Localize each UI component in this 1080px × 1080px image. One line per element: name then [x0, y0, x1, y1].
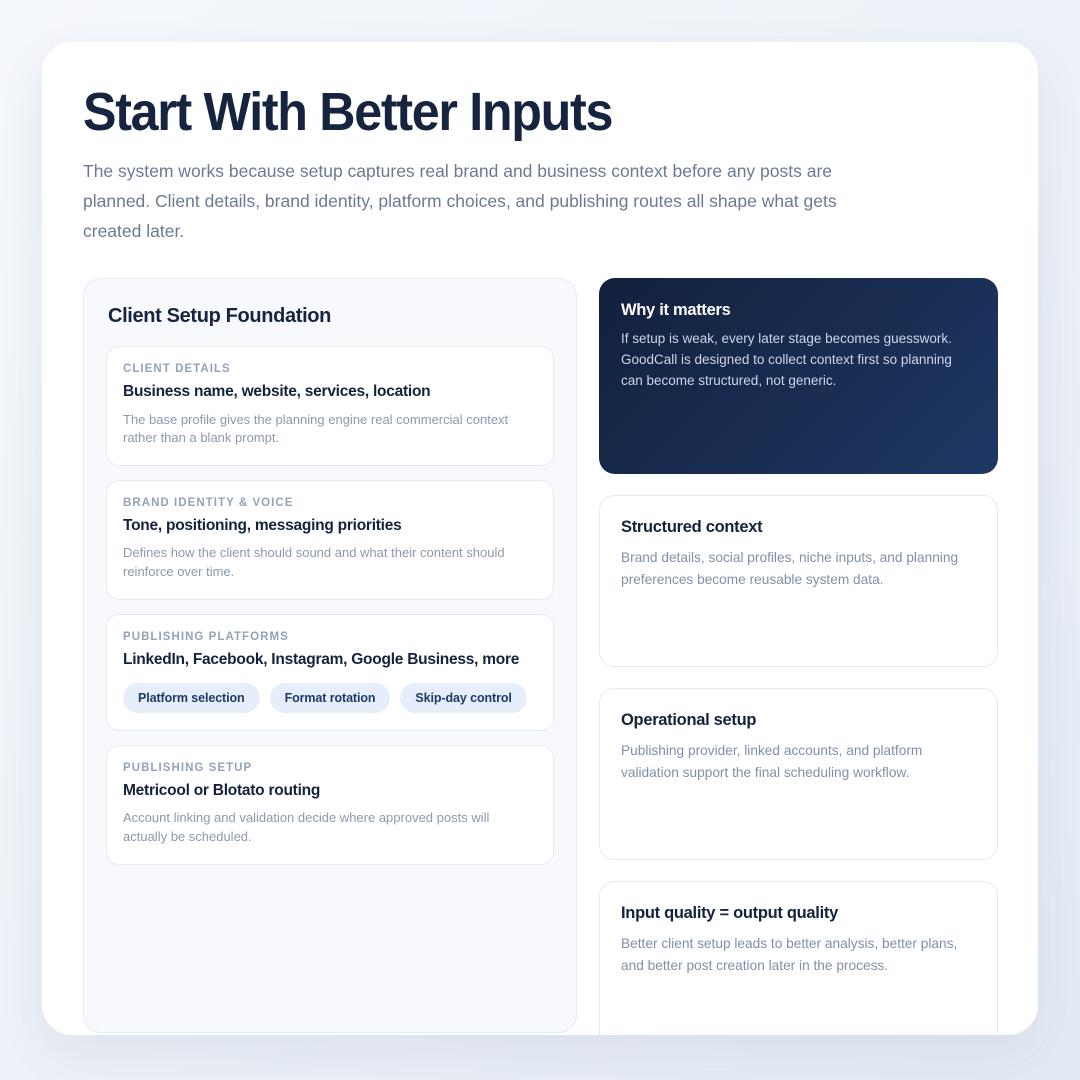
why-it-matters-card: Why it matters If setup is weak, every l…: [599, 278, 998, 474]
feature-card-brand-identity[interactable]: BRAND IDENTITY & VOICE Tone, positioning…: [106, 480, 554, 600]
side-card-title: Structured context: [621, 518, 975, 537]
page-title: Start With Better Inputs: [83, 84, 933, 140]
side-card-operational-setup[interactable]: Operational setup Publishing provider, l…: [599, 688, 998, 860]
feature-heading: LinkedIn, Facebook, Instagram, Google Bu…: [123, 650, 537, 670]
feature-heading: Business name, website, services, locati…: [123, 382, 537, 402]
feature-card-client-details[interactable]: CLIENT DETAILS Business name, website, s…: [106, 346, 554, 466]
feature-eyebrow: PUBLISHING SETUP: [123, 762, 537, 774]
feature-description: The base profile gives the planning engi…: [123, 411, 537, 449]
tag-platform-selection[interactable]: Platform selection: [123, 683, 260, 713]
feature-heading: Tone, positioning, messaging priorities: [123, 516, 537, 536]
tag-format-rotation[interactable]: Format rotation: [270, 683, 391, 713]
content-panel: Start With Better Inputs The system work…: [42, 42, 1038, 1035]
feature-eyebrow: PUBLISHING PLATFORMS: [123, 631, 537, 643]
side-card-body: Publishing provider, linked accounts, an…: [621, 740, 975, 783]
client-setup-panel: Client Setup Foundation CLIENT DETAILS B…: [83, 278, 577, 1033]
side-card-structured-context[interactable]: Structured context Brand details, social…: [599, 495, 998, 667]
feature-eyebrow: BRAND IDENTITY & VOICE: [123, 497, 537, 509]
why-it-matters-title: Why it matters: [621, 301, 975, 320]
feature-heading: Metricool or Blotato routing: [123, 781, 537, 801]
side-card-input-quality[interactable]: Input quality = output quality Better cl…: [599, 881, 998, 1035]
side-card-title: Operational setup: [621, 711, 975, 730]
feature-description: Account linking and validation decide wh…: [123, 809, 537, 847]
left-column: Client Setup Foundation CLIENT DETAILS B…: [83, 278, 577, 1035]
feature-eyebrow: CLIENT DETAILS: [123, 363, 537, 375]
tag-skip-day-control[interactable]: Skip-day control: [400, 683, 526, 713]
why-it-matters-body: If setup is weak, every later stage beco…: [621, 329, 975, 392]
panel-title: Client Setup Foundation: [108, 305, 554, 328]
page-subtitle: The system works because setup captures …: [83, 156, 843, 246]
side-card-title: Input quality = output quality: [621, 904, 975, 923]
feature-card-publishing-platforms[interactable]: PUBLISHING PLATFORMS LinkedIn, Facebook,…: [106, 614, 554, 731]
panel-inner: Start With Better Inputs The system work…: [42, 42, 1038, 1035]
feature-card-publishing-setup[interactable]: PUBLISHING SETUP Metricool or Blotato ro…: [106, 745, 554, 865]
right-column: Why it matters If setup is weak, every l…: [599, 278, 998, 1035]
tag-row: Platform selection Format rotation Skip-…: [123, 683, 537, 713]
side-card-body: Better client setup leads to better anal…: [621, 933, 975, 976]
columns-layout: Client Setup Foundation CLIENT DETAILS B…: [83, 278, 997, 1035]
side-card-body: Brand details, social profiles, niche in…: [621, 547, 975, 590]
feature-description: Defines how the client should sound and …: [123, 544, 537, 582]
